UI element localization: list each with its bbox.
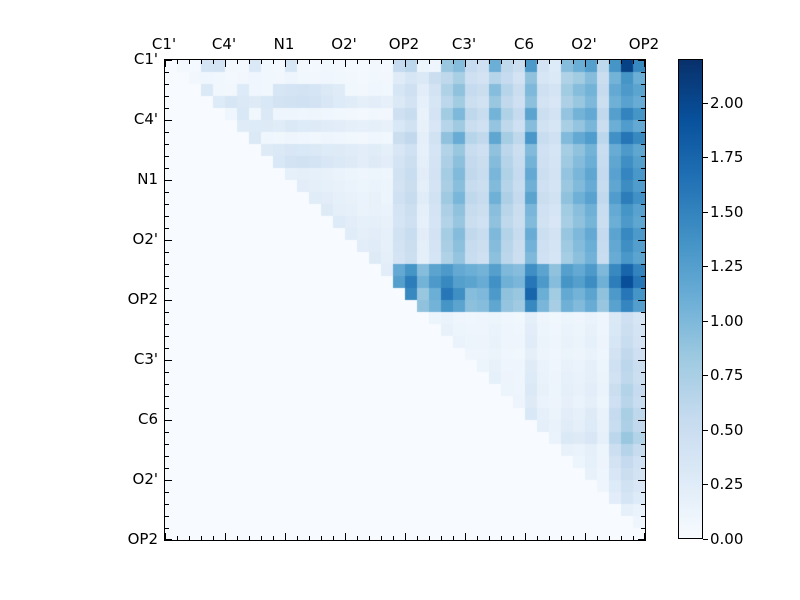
colorbar-gradient-frame [678,59,703,539]
x-tick [393,536,394,540]
x-tick [453,60,454,64]
x-tick [525,60,526,67]
x-tick [213,536,214,540]
x-tick [201,536,202,540]
y-tick [638,180,645,181]
x-tick [405,533,406,540]
y-tick [641,444,645,445]
x-tick-label: C3' [452,35,476,53]
y-tick [165,312,169,313]
y-tick [641,432,645,433]
y-tick [165,408,169,409]
x-tick [573,60,574,64]
colorbar-tick [703,103,708,104]
colorbar-tick-label: 1.25 [710,257,743,275]
y-tick [165,396,169,397]
x-tick [237,60,238,64]
y-tick [165,96,169,97]
y-tick [641,468,645,469]
x-tick-label: O2' [331,35,356,53]
y-tick [165,204,169,205]
y-tick [638,60,645,61]
y-tick-label: OP2 [128,530,158,548]
y-tick [641,144,645,145]
y-tick [641,96,645,97]
x-tick [465,533,466,540]
x-tick [501,536,502,540]
y-tick [165,228,169,229]
colorbar-tick-label: 0.00 [710,530,743,548]
y-tick [641,516,645,517]
x-tick [537,60,538,64]
y-tick [165,240,172,241]
y-tick [641,528,645,529]
colorbar-tick [703,539,708,540]
y-tick [165,60,172,61]
y-tick [641,276,645,277]
x-tick [285,533,286,540]
colorbar-tick-label: 1.75 [710,148,743,166]
y-tick-label: O2' [133,470,158,488]
y-tick [641,192,645,193]
y-tick [641,252,645,253]
x-tick [177,536,178,540]
y-tick [641,348,645,349]
y-tick-label: N1 [137,170,158,188]
x-tick [417,536,418,540]
y-tick [165,120,172,121]
y-tick [641,396,645,397]
colorbar-tick [703,212,708,213]
colorbar-tick [703,321,708,322]
y-tick [165,180,172,181]
y-tick [641,324,645,325]
x-tick [273,536,274,540]
x-tick [585,60,586,67]
x-tick [381,60,382,64]
x-tick [297,536,298,540]
colorbar-tick [703,430,708,431]
y-tick [165,384,169,385]
y-tick [165,444,169,445]
x-tick [489,536,490,540]
x-tick [357,60,358,64]
y-tick [165,372,169,373]
y-tick [641,168,645,169]
x-tick [549,60,550,64]
colorbar-gradient [679,60,702,538]
y-tick [165,480,172,481]
y-tick [165,216,169,217]
heatmap-grid[interactable] [165,60,645,540]
colorbar-tick [703,375,708,376]
colorbar-tick-label: 1.00 [710,312,743,330]
x-tick [345,533,346,540]
x-tick [465,60,466,67]
x-tick [249,60,250,64]
y-tick [641,228,645,229]
y-tick [641,504,645,505]
x-tick [489,60,490,64]
y-tick [165,504,169,505]
y-tick [638,300,645,301]
y-tick [165,348,169,349]
y-tick [165,144,169,145]
y-tick [641,336,645,337]
x-tick [261,536,262,540]
x-tick [189,60,190,64]
x-tick [333,60,334,64]
x-tick [297,60,298,64]
x-tick [321,60,322,64]
x-tick [597,536,598,540]
x-tick [573,536,574,540]
y-tick [641,372,645,373]
y-tick [641,132,645,133]
matplotlib-figure: C1'C4'N1O2'OP2C3'C6O2'OP2 C1'C4'N1O2'OP2… [0,0,800,600]
y-tick-label: O2' [133,230,158,248]
y-tick [641,204,645,205]
x-tick [585,533,586,540]
y-tick-label: OP2 [128,290,158,308]
x-tick [513,536,514,540]
y-tick [165,468,169,469]
x-tick [561,60,562,64]
x-tick [357,536,358,540]
x-tick [333,536,334,540]
x-axis-tick-labels: C1'C4'N1O2'OP2C3'C6O2'OP2 [164,0,644,59]
colorbar-tick-label: 0.25 [710,475,743,493]
x-tick [537,536,538,540]
y-tick [641,408,645,409]
y-tick [165,324,169,325]
x-tick [237,536,238,540]
y-tick [165,336,169,337]
y-tick [165,264,169,265]
x-tick [405,60,406,67]
colorbar-tick-label: 2.00 [710,94,743,112]
y-tick [165,72,169,73]
y-tick-label: C3' [134,350,158,368]
x-tick [165,60,166,67]
x-tick [477,60,478,64]
y-tick [641,156,645,157]
y-tick [641,492,645,493]
x-tick [201,60,202,64]
x-tick [441,60,442,64]
x-tick [225,60,226,67]
y-tick [165,539,172,540]
y-tick [641,456,645,457]
x-tick [225,533,226,540]
x-tick-label: N1 [274,35,295,53]
y-tick-label: C1' [134,50,158,68]
x-tick [633,60,634,64]
colorbar-tick-label: 1.50 [710,203,743,221]
x-tick-label: OP2 [629,35,659,53]
x-tick [609,60,610,64]
x-tick [597,60,598,64]
x-tick [429,60,430,64]
x-tick [309,60,310,64]
y-tick [641,384,645,385]
colorbar: 0.000.250.500.751.001.251.501.752.00 [678,59,703,539]
x-tick [369,60,370,64]
x-tick [369,536,370,540]
x-tick [549,536,550,540]
y-tick-label: C4' [134,110,158,128]
y-tick [641,84,645,85]
x-tick [501,60,502,64]
y-tick [641,216,645,217]
colorbar-tick [703,484,708,485]
y-tick [165,420,172,421]
x-tick [321,536,322,540]
y-tick [638,480,645,481]
y-tick [165,156,169,157]
y-tick [165,276,169,277]
y-tick [165,456,169,457]
x-tick-label: O2' [571,35,596,53]
y-tick [165,132,169,133]
x-tick [213,60,214,64]
x-tick [633,536,634,540]
y-tick [638,420,645,421]
y-tick [165,252,169,253]
y-tick [641,312,645,313]
x-tick [621,60,622,64]
x-tick [429,536,430,540]
y-axis-tick-labels: C1'C4'N1O2'OP2C3'C6O2'OP2 [60,59,158,539]
x-tick [441,536,442,540]
y-tick [638,539,645,540]
x-tick [345,60,346,67]
x-tick [621,536,622,540]
x-tick [393,60,394,64]
heatmap-axes[interactable] [164,59,646,541]
y-tick [641,288,645,289]
x-tick [609,536,610,540]
y-tick [641,264,645,265]
y-tick [165,528,169,529]
colorbar-tick-label: 0.75 [710,366,743,384]
x-tick [525,533,526,540]
y-tick [165,492,169,493]
x-tick [177,60,178,64]
y-tick [165,108,169,109]
x-tick [644,60,645,67]
x-tick [561,536,562,540]
y-tick [641,72,645,73]
x-tick-label: C4' [212,35,236,53]
x-tick [249,536,250,540]
y-tick [165,300,172,301]
x-tick-label: OP2 [389,35,419,53]
y-tick [641,108,645,109]
colorbar-tick [703,157,708,158]
x-tick [453,536,454,540]
y-tick [165,84,169,85]
x-tick [513,60,514,64]
colorbar-tick-label: 0.50 [710,421,743,439]
x-tick [381,536,382,540]
x-tick [261,60,262,64]
x-tick [417,60,418,64]
x-tick [285,60,286,67]
x-tick [309,536,310,540]
colorbar-tick [703,266,708,267]
y-tick [165,432,169,433]
y-tick [638,240,645,241]
y-tick [638,120,645,121]
y-tick [165,360,172,361]
x-tick [477,536,478,540]
y-tick [165,192,169,193]
x-tick [273,60,274,64]
y-tick-label: C6 [138,410,158,428]
x-tick [189,536,190,540]
y-tick [165,168,169,169]
y-tick [638,360,645,361]
y-tick [165,288,169,289]
y-tick [165,516,169,517]
x-tick-label: C6 [514,35,534,53]
